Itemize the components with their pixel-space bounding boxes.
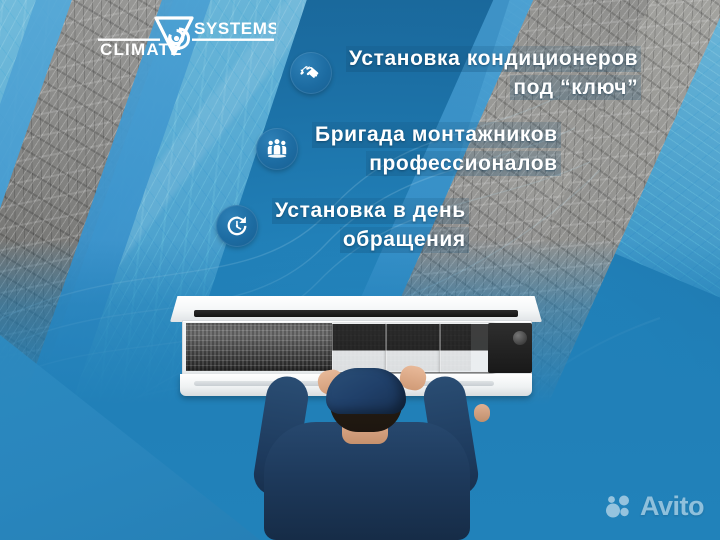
feature-item-turnkey-installation: Установка кондиционеров под “ключ” [0, 46, 720, 100]
feature-list: Установка кондиционеров под “ключ” Брига… [0, 46, 720, 275]
feature-text-same-day-install: Установка в день обращения [272, 198, 469, 252]
feature-item-professional-crew: Бригада монтажников профессионалов [0, 122, 720, 176]
logo-word-systems: SYSTEMS [194, 19, 276, 38]
technician-figure [246, 375, 486, 540]
handshake-icon [290, 52, 332, 94]
avito-watermark: Avito [604, 491, 704, 522]
feature-line-1: Установка в день [272, 198, 469, 224]
feature-line-1: Установка кондиционеров [346, 46, 641, 72]
avito-wordmark: Avito [640, 491, 704, 522]
avito-dots-icon [604, 494, 634, 520]
team-people-icon [256, 128, 298, 170]
ac-control-module [488, 323, 532, 373]
technician-cap [326, 368, 406, 414]
promo-poster: CLIMATE SYSTEMS Установка кондиционеров … [0, 0, 720, 540]
feature-item-same-day-install: Установка в день обращения [0, 198, 720, 252]
ac-filter [440, 323, 494, 373]
feature-line-2: под “ключ” [510, 75, 641, 101]
fast-clock-icon [216, 205, 258, 247]
feature-line-1: Бригада монтажников [312, 122, 561, 148]
feature-line-2: профессионалов [366, 151, 561, 177]
ac-filter [332, 323, 386, 373]
feature-text-turnkey-installation: Установка кондиционеров под “ключ” [346, 46, 641, 100]
ac-front-panel-open [170, 296, 542, 322]
ac-intake-slot [194, 310, 518, 317]
feature-text-professional-crew: Бригада монтажников профессионалов [312, 122, 561, 176]
logo-rule-right [192, 39, 274, 41]
feature-line-2: обращения [340, 227, 469, 253]
technician-ear [474, 404, 490, 422]
